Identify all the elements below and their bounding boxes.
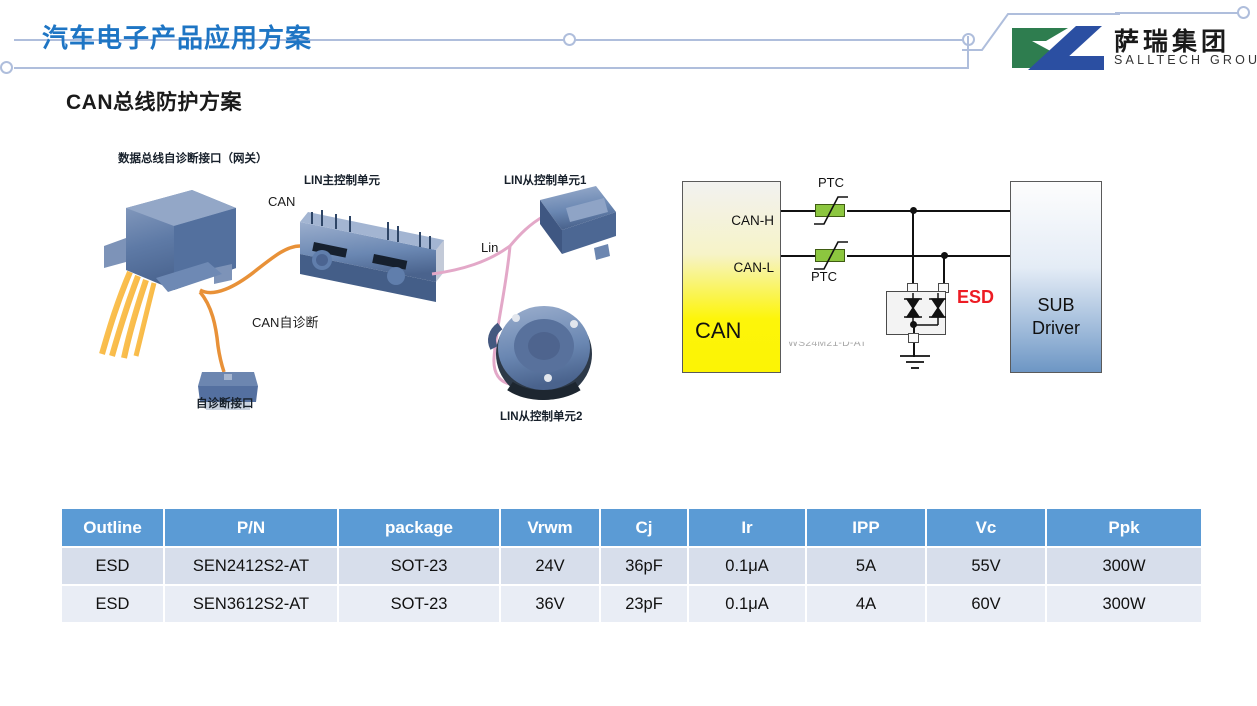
- can-source-block: CAN-H CAN-L CAN: [682, 181, 781, 373]
- cell-pn: SEN2412S2-AT: [164, 547, 338, 585]
- col-outline: Outline: [62, 509, 164, 547]
- table-row: ESD SEN2412S2-AT SOT-23 24V 36pF 0.1μA 5…: [62, 547, 1201, 585]
- can-l-pin-label: CAN-L: [733, 260, 774, 275]
- salltech-logo-icon: [1010, 24, 1106, 72]
- col-package: package: [338, 509, 500, 547]
- sub-driver-line1: SUB: [1011, 294, 1101, 317]
- esd-lead-ground: [908, 333, 919, 343]
- ground-symbol-icon: [896, 353, 934, 371]
- node-can-h: [910, 207, 917, 214]
- cell-cj: 36pF: [600, 547, 688, 585]
- lin-slave1-graphic: [540, 186, 616, 260]
- ptc-can-h-symbol: [811, 193, 851, 227]
- esd-callout-label: ESD: [957, 287, 994, 308]
- cell-pn: SEN3612S2-AT: [164, 585, 338, 623]
- brand-logo: 萨瑞集团 SALLTECH GROUP: [1010, 22, 1250, 74]
- logo-name-en: SALLTECH GROUP: [1114, 53, 1257, 67]
- illustration-graphics: [96, 150, 656, 430]
- label-gateway: 数据总线自诊断接口（网关）: [118, 150, 268, 166]
- wire-can-h-right: [847, 210, 1011, 212]
- page-title: 汽车电子产品应用方案: [42, 18, 312, 55]
- cell-outline: ESD: [62, 585, 164, 623]
- table-row: ESD SEN3612S2-AT SOT-23 36V 23pF 0.1μA 4…: [62, 585, 1201, 623]
- wire-can-h-left: [781, 210, 815, 212]
- slide-canvas: 汽车电子产品应用方案 萨瑞集团 SALLTECH GROUP CAN总线防护方案: [0, 0, 1257, 706]
- deco-circle-top-right: [1237, 6, 1250, 19]
- cell-ir: 0.1μA: [688, 547, 806, 585]
- cell-package: SOT-23: [338, 547, 500, 585]
- label-can-diag: CAN自诊断: [252, 312, 318, 331]
- lin-master-graphic: [300, 210, 444, 302]
- label-lin-slave-2: LIN从控制单元2: [500, 408, 582, 424]
- ptc-bottom-label: PTC: [811, 269, 837, 284]
- can-diag-cable: [200, 292, 224, 372]
- cell-ipp: 4A: [806, 585, 926, 623]
- col-vrwm: Vrwm: [500, 509, 600, 547]
- cell-ir: 0.1μA: [688, 585, 806, 623]
- cell-vrwm: 36V: [500, 585, 600, 623]
- label-lin-slave-1: LIN从控制单元1: [504, 172, 586, 188]
- label-lin: Lin: [481, 240, 498, 255]
- can-block-label: CAN: [695, 318, 741, 344]
- esd-spec-table: Outline P/N package Vrwm Cj Ir IPP Vc Pp…: [62, 509, 1201, 624]
- label-diag-port: 自诊断接口: [196, 395, 254, 411]
- cell-vc: 55V: [926, 547, 1046, 585]
- lin-can-topology-illustration: 数据总线自诊断接口（网关） CAN CAN自诊断 自诊断接口 LIN主控制单元 …: [96, 150, 656, 430]
- ptc-can-l-symbol: [811, 238, 851, 272]
- deco-circle-main-mid: [563, 33, 576, 46]
- sub-driver-line2: Driver: [1011, 317, 1101, 340]
- deco-line-lower: [14, 67, 969, 69]
- col-ir: Ir: [688, 509, 806, 547]
- wire-can-l-left: [781, 255, 815, 257]
- lin-slave2-graphic: [492, 306, 592, 400]
- can-protection-circuit: CAN-H CAN-L CAN WS24M21-D-AT PTC PTC: [670, 165, 1110, 405]
- col-cj: Cj: [600, 509, 688, 547]
- cell-ipp: 5A: [806, 547, 926, 585]
- label-can: CAN: [268, 194, 295, 209]
- col-ppk: Ppk: [1046, 509, 1201, 547]
- node-can-l: [941, 252, 948, 259]
- cell-cj: 23pF: [600, 585, 688, 623]
- ghost-part-number: WS24M21-D-AT: [788, 337, 867, 349]
- cell-outline: ESD: [62, 547, 164, 585]
- table-header-row: Outline P/N package Vrwm Cj Ir IPP Vc Pp…: [62, 509, 1201, 547]
- col-vc: Vc: [926, 509, 1046, 547]
- label-lin-master: LIN主控制单元: [304, 172, 380, 188]
- section-title: CAN总线防护方案: [66, 86, 242, 116]
- sub-driver-block: SUB Driver: [1010, 181, 1102, 373]
- cell-vc: 60V: [926, 585, 1046, 623]
- wire-can-l-right: [847, 255, 1011, 257]
- col-ipp: IPP: [806, 509, 926, 547]
- deco-lower-right-corner: [960, 36, 974, 70]
- cell-package: SOT-23: [338, 585, 500, 623]
- wire-tap-can-h: [912, 211, 914, 293]
- esd-diode-symbols: [886, 291, 946, 335]
- can-h-pin-label: CAN-H: [731, 213, 774, 228]
- deco-line-top-right: [1115, 12, 1240, 14]
- cell-ppk: 300W: [1046, 547, 1201, 585]
- deco-circle-lower-left: [0, 61, 13, 74]
- ptc-top-label: PTC: [818, 175, 844, 190]
- lin-cable-slave1: [510, 216, 544, 246]
- cell-vrwm: 24V: [500, 547, 600, 585]
- cell-ppk: 300W: [1046, 585, 1201, 623]
- col-pn: P/N: [164, 509, 338, 547]
